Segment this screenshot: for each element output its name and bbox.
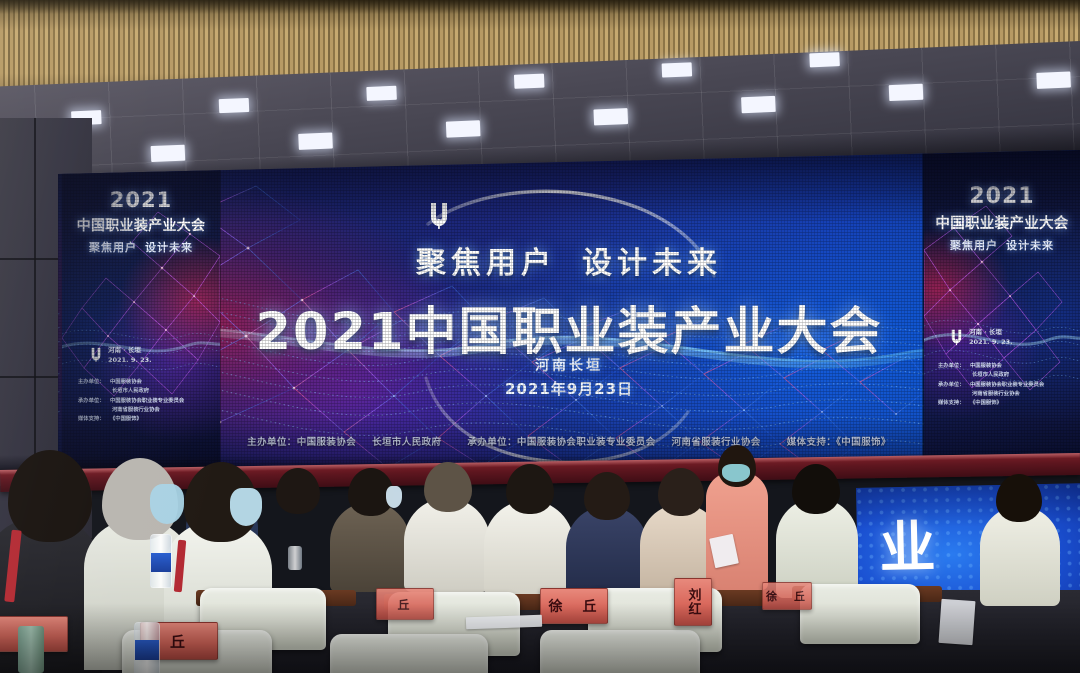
attendee-head <box>584 472 630 520</box>
ceiling-light-panel <box>1036 71 1071 88</box>
placard-text: 丘 <box>397 596 412 613</box>
ceiling-light-panel <box>298 132 333 149</box>
standing-attendee-body <box>706 472 768 590</box>
ceiling-light-panel <box>889 84 924 101</box>
attendee-body <box>404 498 490 592</box>
water-bottle <box>150 534 172 588</box>
conference-hall-photo: 聚焦用户设计未来 2021中国职业装产业大会 河南长垣 2021年9月23日 主… <box>0 0 1080 673</box>
ceiling-light-panel <box>446 120 481 137</box>
name-placard: 丘 <box>376 588 434 620</box>
name-placard: 徐 丘 <box>762 582 812 610</box>
attendee-head <box>996 474 1042 522</box>
ceiling-shadow-band <box>0 0 1080 14</box>
placard-text: 徐 丘 <box>549 596 600 616</box>
water-glass <box>288 546 302 570</box>
ceiling-light-panel <box>741 96 776 113</box>
attendee-head <box>276 468 320 514</box>
ceiling-light-panel <box>219 98 250 113</box>
screen-vignette <box>58 150 1080 482</box>
bottle-label <box>151 553 171 573</box>
attendee-head <box>424 462 472 512</box>
name-placard: 徐 丘 <box>540 588 608 624</box>
attendee-body <box>484 500 574 596</box>
main-led-screen: 聚焦用户设计未来 2021中国职业装产业大会 河南长垣 2021年9月23日 主… <box>58 150 1080 482</box>
ceiling-light-panel <box>366 86 397 101</box>
placard-text: 徐 丘 <box>766 588 808 604</box>
attendee-head <box>8 450 92 542</box>
water-bottle <box>134 622 160 673</box>
ceiling-light-panel <box>809 52 840 67</box>
audience-area: 主 丘 徐 丘 刘红 丘 徐 丘 <box>0 440 1080 673</box>
bottle-label <box>135 640 159 659</box>
name-placard: 刘红 <box>674 578 712 626</box>
ceiling-light-panel <box>662 62 693 77</box>
attendee-head <box>506 464 554 514</box>
ceiling-light-panel <box>593 108 628 125</box>
document-sheet <box>939 599 976 645</box>
attendee-head <box>658 468 704 516</box>
placard-text: 刘红 <box>684 588 703 616</box>
ceiling-light-panel <box>514 74 545 89</box>
attendee-head <box>792 464 840 514</box>
chair-with-cover <box>800 584 920 644</box>
face-mask <box>230 488 262 526</box>
ceiling-light-panel <box>151 145 186 162</box>
chair-with-cover <box>330 634 488 673</box>
thermos-cup <box>18 626 44 673</box>
placard-text: 丘 <box>170 631 188 652</box>
face-mask <box>150 484 184 524</box>
face-mask <box>386 486 402 508</box>
face-mask <box>722 464 750 482</box>
chair-with-cover <box>540 630 700 673</box>
